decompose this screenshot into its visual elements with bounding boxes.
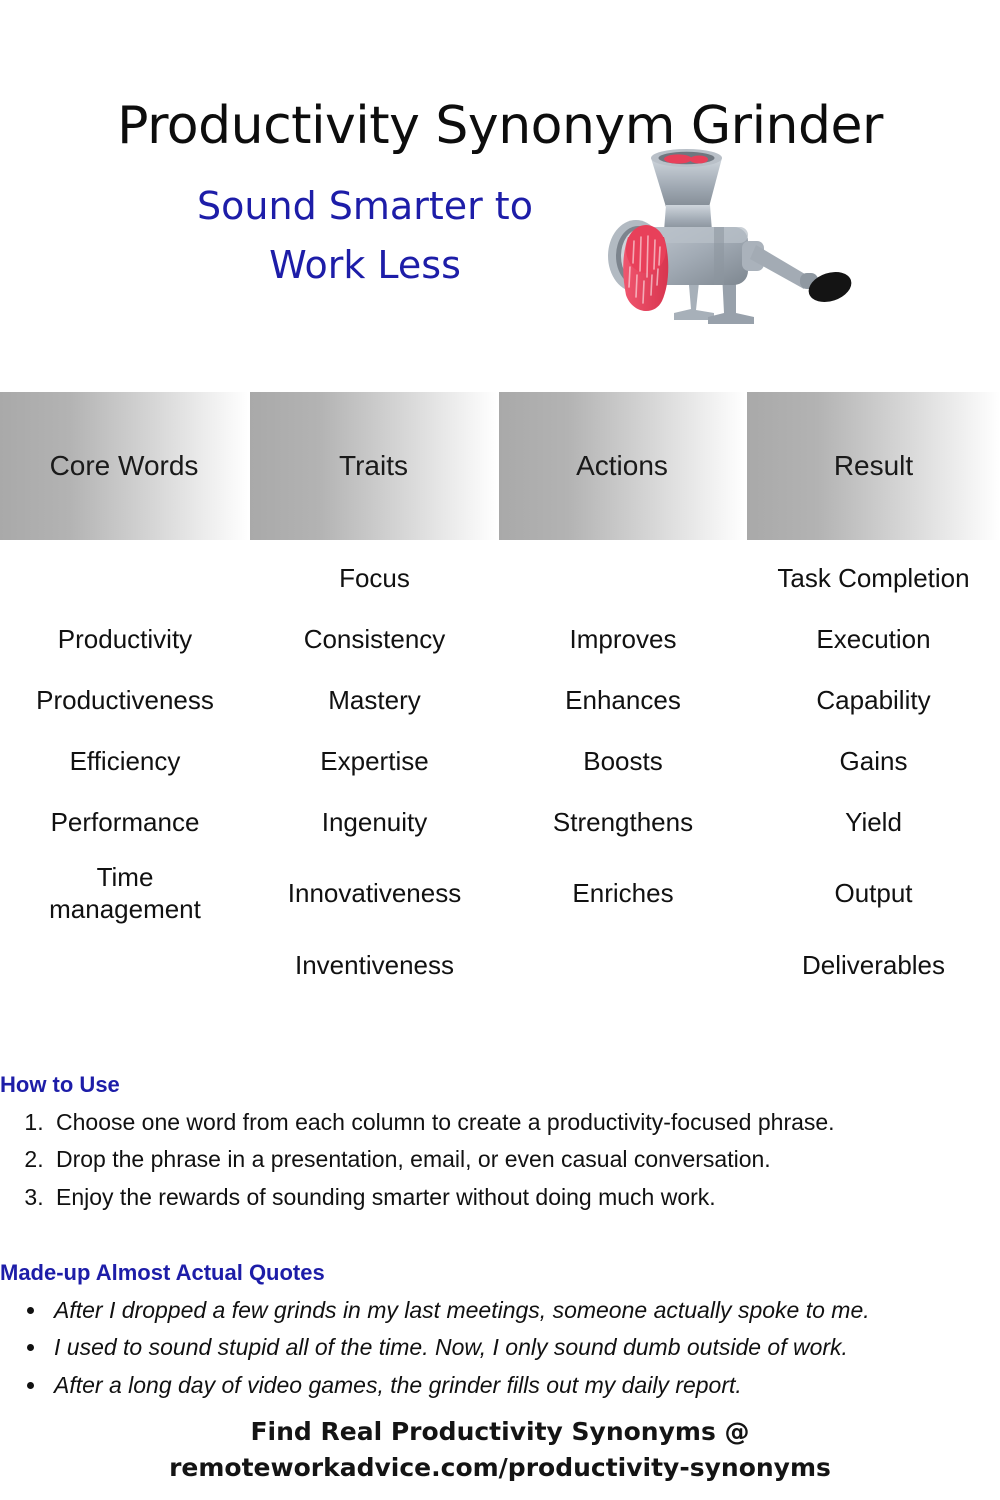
quotes-heading: Made-up Almost Actual Quotes [0,1260,1000,1286]
cell-result: Task Completion [747,548,1000,609]
how-to-use-list: Choose one word from each column to crea… [0,1104,1000,1216]
cell-actions: Enriches [499,853,747,935]
cell-actions: Boosts [499,731,747,792]
cell-core-words [0,935,250,996]
column-header-core-words: Core Words [0,392,248,540]
cell-result: Yield [747,792,1000,853]
table-row: Efficiency Expertise Boosts Gains [0,731,1000,792]
quotes-list: After I dropped a few grinds in my last … [0,1292,1000,1404]
list-item: Choose one word from each column to crea… [50,1104,1000,1141]
cell-result: Deliverables [747,935,1000,996]
cell-core-words: Efficiency [0,731,250,792]
table-row: Focus Task Completion [0,548,1000,609]
quotes-section: Made-up Almost Actual Quotes After I dro… [0,1260,1000,1404]
list-item: I used to sound stupid all of the time. … [48,1329,1000,1366]
cell-result: Output [747,853,1000,935]
synonym-grid: Focus Task Completion Productivity Consi… [0,548,1000,996]
cell-actions: Enhances [499,670,747,731]
cell-traits: Focus [250,548,499,609]
cell-actions [499,935,747,996]
list-item: Drop the phrase in a presentation, email… [50,1141,1000,1178]
subtitle-line-1: Sound Smarter to [197,184,533,228]
column-header-result: Result [747,392,1000,540]
cell-traits: Inventiveness [250,935,499,996]
cell-core-words: Productivity [0,609,250,670]
list-item: After I dropped a few grinds in my last … [48,1292,1000,1329]
subtitle-line-2: Work Less [269,243,461,287]
cell-actions: Strengthens [499,792,747,853]
meat-grinder-icon [596,145,858,335]
list-item: After a long day of video games, the gri… [48,1367,1000,1404]
column-header-traits: Traits [250,392,497,540]
cell-actions [499,548,747,609]
footer-line-1: Find Real Productivity Synonyms @ [0,1414,1000,1450]
table-row: Performance Ingenuity Strengthens Yield [0,792,1000,853]
hero-section: Sound Smarter to Work Less [0,177,1000,347]
table-row: Time management Innovativeness Enriches … [0,853,1000,935]
cell-result: Capability [747,670,1000,731]
cell-traits: Expertise [250,731,499,792]
cell-traits: Mastery [250,670,499,731]
cell-traits: Innovativeness [250,853,499,935]
cell-core-words: Time management [40,853,210,935]
page-title: Productivity Synonym Grinder [0,0,1000,155]
column-header-row: Core Words Traits Actions Result [0,392,1000,540]
cell-core-words: Performance [0,792,250,853]
cell-core-words [0,548,250,609]
list-item: Enjoy the rewards of sounding smarter wi… [50,1179,1000,1216]
footer-url[interactable]: remoteworkadvice.com/productivity-synony… [0,1450,1000,1486]
cell-actions: Improves [499,609,747,670]
cell-result: Gains [747,731,1000,792]
cell-traits: Consistency [250,609,499,670]
table-row: Inventiveness Deliverables [0,935,1000,996]
table-row: Productivity Consistency Improves Execut… [0,609,1000,670]
how-to-use-heading: How to Use [0,1072,1000,1098]
column-header-actions: Actions [499,392,745,540]
footer: Find Real Productivity Synonyms @ remote… [0,1414,1000,1485]
table-row: Productiveness Mastery Enhances Capabili… [0,670,1000,731]
cell-traits: Ingenuity [250,792,499,853]
cell-core-words: Productiveness [0,670,250,731]
how-to-use-section: How to Use Choose one word from each col… [0,1072,1000,1216]
cell-result: Execution [747,609,1000,670]
